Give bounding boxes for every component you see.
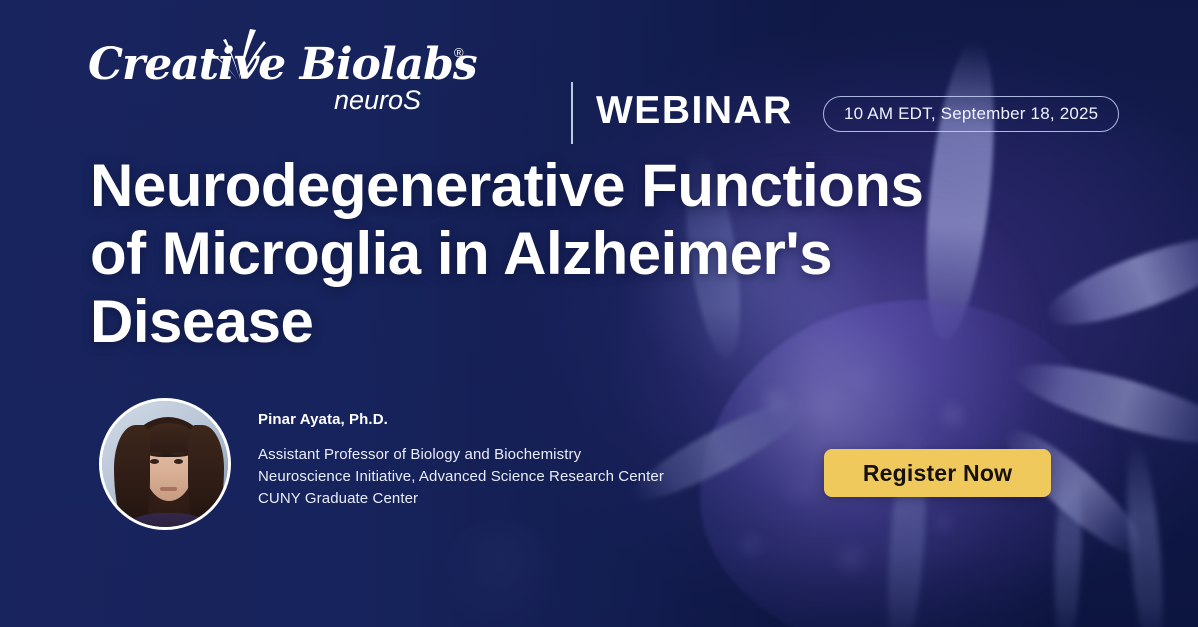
speaker-block: Pinar Ayata, Ph.D. Assistant Professor o… — [99, 398, 664, 530]
avatar-mouth — [160, 487, 177, 491]
speaker-affiliation-2: Neuroscience Initiative, Advanced Scienc… — [258, 466, 664, 488]
speaker-affiliation-1: Assistant Professor of Biology and Bioch… — [258, 444, 664, 466]
brand-logo-wordmark: Creative Biolabs — [88, 39, 477, 90]
speaker-affiliation-3: CUNY Graduate Center — [258, 488, 664, 510]
page-title: Neurodegenerative Functions of Microglia… — [90, 152, 990, 356]
webinar-label: WEBINAR — [596, 89, 793, 133]
speaker-name: Pinar Ayata, Ph.D. — [258, 411, 664, 428]
avatar — [99, 398, 231, 530]
avatar-eyebrow — [148, 452, 161, 455]
avatar-eyebrow — [172, 452, 185, 455]
speaker-details: Pinar Ayata, Ph.D. Assistant Professor o… — [258, 398, 664, 510]
date-time-badge: 10 AM EDT, September 18, 2025 — [823, 96, 1119, 132]
register-now-button[interactable]: Register Now — [824, 449, 1051, 497]
avatar-eye — [150, 459, 159, 464]
brand-logo[interactable]: Creative Biolabs ® neuroS — [88, 33, 478, 111]
avatar-eye — [174, 459, 183, 464]
banner-header: Creative Biolabs ® neuroS WEBINAR 10 AM … — [88, 34, 478, 110]
registered-trademark-icon: ® — [454, 45, 464, 60]
webinar-banner: Creative Biolabs ® neuroS WEBINAR 10 AM … — [0, 0, 1198, 627]
header-divider — [571, 82, 573, 144]
brand-logo-subtitle: neuroS — [334, 85, 421, 116]
avatar-hair-right — [188, 425, 224, 530]
banner-content: Creative Biolabs ® neuroS WEBINAR 10 AM … — [0, 0, 1198, 627]
